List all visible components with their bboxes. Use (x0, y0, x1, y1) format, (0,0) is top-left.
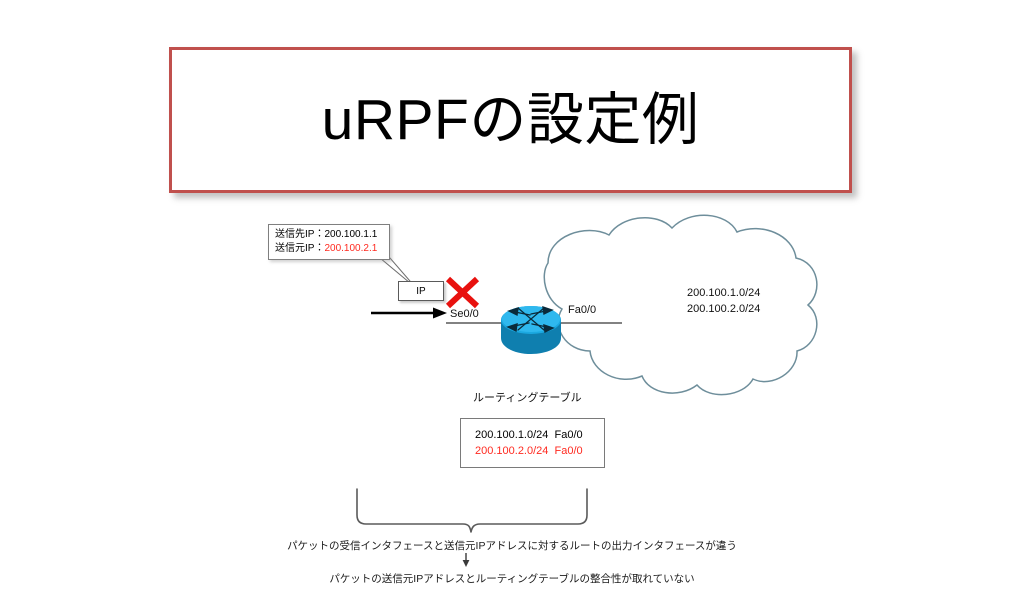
cloud-network-0: 200.100.1.0/24 (687, 286, 760, 302)
packet-header-callout: 送信先IP：200.100.1.1 送信元IP：200.100.2.1 (268, 224, 390, 260)
dest-ip-label: 送信先IP： (275, 229, 324, 240)
conclusion-line-1: パケットの受信インタフェースと送信元IPアドレスに対するルートの出力インタフェー… (0, 538, 1024, 553)
route-interface-0: Fa0/0 (555, 429, 583, 441)
page-title: uRPFの設定例 (322, 92, 700, 149)
dest-ip-value: 200.100.1.1 (324, 229, 377, 240)
src-ip-label: 送信元IP： (275, 243, 324, 254)
route-interface-1: Fa0/0 (555, 445, 583, 457)
route-network-0: 200.100.1.0/24 (475, 429, 548, 441)
src-ip-value: 200.100.2.1 (324, 243, 377, 254)
cloud-network-list: 200.100.1.0/24 200.100.2.0/24 (687, 286, 760, 318)
routing-table-box: 200.100.1.0/24 Fa0/0 200.100.2.0/24 Fa0/… (460, 418, 605, 468)
cloud-network-1: 200.100.2.0/24 (687, 302, 760, 318)
callout-line-source: 送信元IP：200.100.2.1 (275, 242, 384, 256)
callout-line-destination: 送信先IP：200.100.1.1 (275, 228, 384, 242)
route-network-1: 200.100.2.0/24 (475, 445, 548, 457)
routing-table-title: ルーティングテーブル (473, 389, 582, 405)
red-x-block-icon (448, 279, 477, 306)
routing-table-row-0: 200.100.1.0/24 Fa0/0 (475, 428, 604, 444)
conclusion-down-arrow (463, 553, 470, 567)
interface-label-se0-0: Se0/0 (450, 308, 479, 320)
interface-label-fa0-0: Fa0/0 (568, 304, 596, 316)
ip-packet-box: IP (398, 281, 444, 301)
conclusion-line-2: パケットの送信元IPアドレスとルーティングテーブルの整合性が取れていない (0, 571, 1024, 586)
title-banner: uRPFの設定例 (169, 47, 852, 193)
summary-brace (357, 489, 587, 532)
ip-packet-label: IP (416, 286, 425, 297)
ingress-arrow (371, 308, 447, 319)
cisco-router-icon (501, 306, 561, 354)
slide-canvas: uRPFの設定例 (0, 0, 1024, 597)
routing-table-row-1: 200.100.2.0/24 Fa0/0 (475, 444, 604, 460)
